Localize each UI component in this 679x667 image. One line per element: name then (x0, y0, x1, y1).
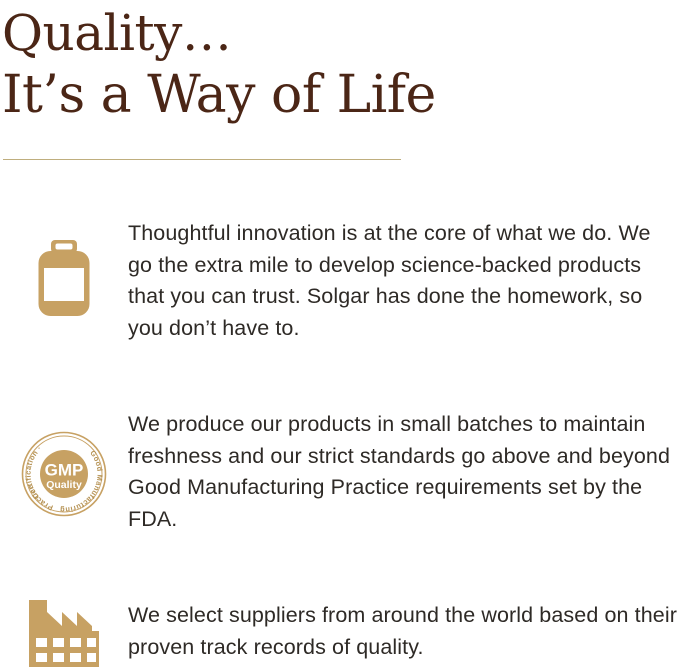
gmp-sub-label: Quality (46, 479, 82, 491)
header-divider (3, 159, 401, 160)
feature-icon-slot: Good Manufacturing Certification · Pract… (0, 409, 128, 517)
feature-text-gmp: We produce our products in small batches… (128, 409, 679, 535)
gmp-main-label: GMP (45, 461, 84, 480)
feature-icon-slot (0, 218, 128, 316)
headline-line-1: Quality… (2, 2, 662, 64)
feature-row-gmp: Good Manufacturing Certification · Pract… (0, 409, 679, 535)
feature-text-suppliers: We select suppliers from around the worl… (128, 600, 679, 663)
quality-page: { "headline": { "line1": "Quality\u2026"… (0, 0, 679, 663)
feature-row-innovation: Thoughtful innovation is at the core of … (0, 218, 679, 344)
feature-icon-slot (0, 600, 128, 667)
supplement-bottle-icon (38, 240, 90, 316)
headline-line-2: It’s a Way of Life (2, 66, 662, 124)
feature-row-suppliers: We select suppliers from around the worl… (0, 600, 679, 667)
factory-icon (27, 600, 101, 667)
gmp-quality-seal-icon: Good Manufacturing Certification · Pract… (21, 431, 107, 517)
feature-text-innovation: Thoughtful innovation is at the core of … (128, 218, 679, 344)
page-title: Quality… It’s a Way of Life (2, 2, 662, 124)
